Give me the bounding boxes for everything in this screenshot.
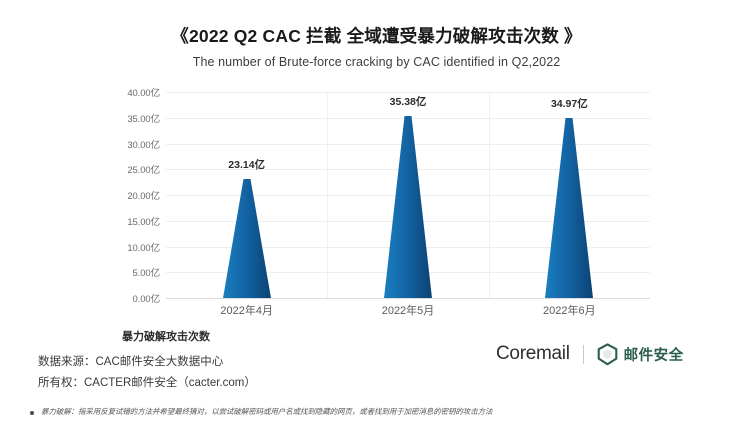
y-axis-tick: 20.00亿 (127, 188, 160, 202)
brand-name: Coremail (496, 343, 570, 365)
y-axis-tick: 15.00亿 (127, 214, 160, 228)
source-line-owner: 所有权：CACTER邮件安全（cacter.com） (38, 373, 256, 394)
bar-column[interactable]: 23.14亿 (223, 92, 271, 298)
y-axis-tick: 35.00亿 (127, 111, 160, 125)
source-block: 数据来源：CAC邮件安全大数据中心 所有权：CACTER邮件安全（cacter.… (38, 352, 256, 394)
brand-divider (583, 345, 584, 364)
gridline (166, 298, 650, 299)
chart-plot-area: 0.00亿5.00亿10.00亿15.00亿20.00亿25.00亿30.00亿… (0, 92, 753, 322)
chart-header: 《2022 Q2 CAC 拦截 全域遭受暴力破解攻击次数 》 The numbe… (0, 26, 753, 69)
bar-column[interactable]: 34.97亿 (545, 92, 593, 298)
x-axis-label: 2022年6月 (499, 302, 639, 318)
bar-value-label: 35.38亿 (348, 94, 468, 109)
bar-cone[interactable] (545, 118, 593, 298)
brand-subtitle: 邮件安全 (624, 344, 684, 365)
y-axis-tick: 25.00亿 (127, 162, 160, 176)
bar-cone[interactable] (384, 116, 432, 298)
y-axis-tick: 40.00亿 (127, 85, 160, 99)
bar-column[interactable]: 35.38亿 (384, 92, 432, 298)
y-axis: 0.00亿5.00亿10.00亿15.00亿20.00亿25.00亿30.00亿… (98, 92, 160, 298)
bars-group: 23.14亿35.38亿34.97亿 (166, 92, 650, 298)
page-title: 《2022 Q2 CAC 拦截 全域遭受暴力破解攻击次数 》 (0, 26, 753, 48)
shield-icon (597, 343, 618, 366)
footnote: 暴力破解：指采用反复试错的方法并希望最终猜对，以尝试破解密码或用户名或找到隐藏的… (30, 406, 730, 418)
y-axis-tick: 0.00亿 (133, 291, 161, 305)
bullet-icon (30, 411, 34, 415)
page-subtitle: The number of Brute-force cracking by CA… (0, 55, 753, 69)
footnote-text: 暴力破解：指采用反复试错的方法并希望最终猜对，以尝试破解密码或用户名或找到隐藏的… (41, 406, 492, 418)
source-line-data: 数据来源：CAC邮件安全大数据中心 (38, 352, 256, 373)
y-axis-tick: 10.00亿 (127, 240, 160, 254)
bar-value-label: 23.14亿 (187, 157, 307, 172)
legend-series-label: 暴力破解攻击次数 (122, 328, 210, 344)
x-axis-label: 2022年4月 (177, 302, 317, 318)
brand-lockup: Coremail 邮件安全 (496, 342, 684, 366)
y-axis-tick: 5.00亿 (133, 265, 161, 279)
bar-value-label: 34.97亿 (509, 96, 629, 111)
x-axis-label: 2022年5月 (338, 302, 478, 318)
y-axis-tick: 30.00亿 (127, 137, 160, 151)
bar-cone[interactable] (223, 179, 271, 298)
x-axis: 2022年4月2022年5月2022年6月 (166, 302, 650, 324)
